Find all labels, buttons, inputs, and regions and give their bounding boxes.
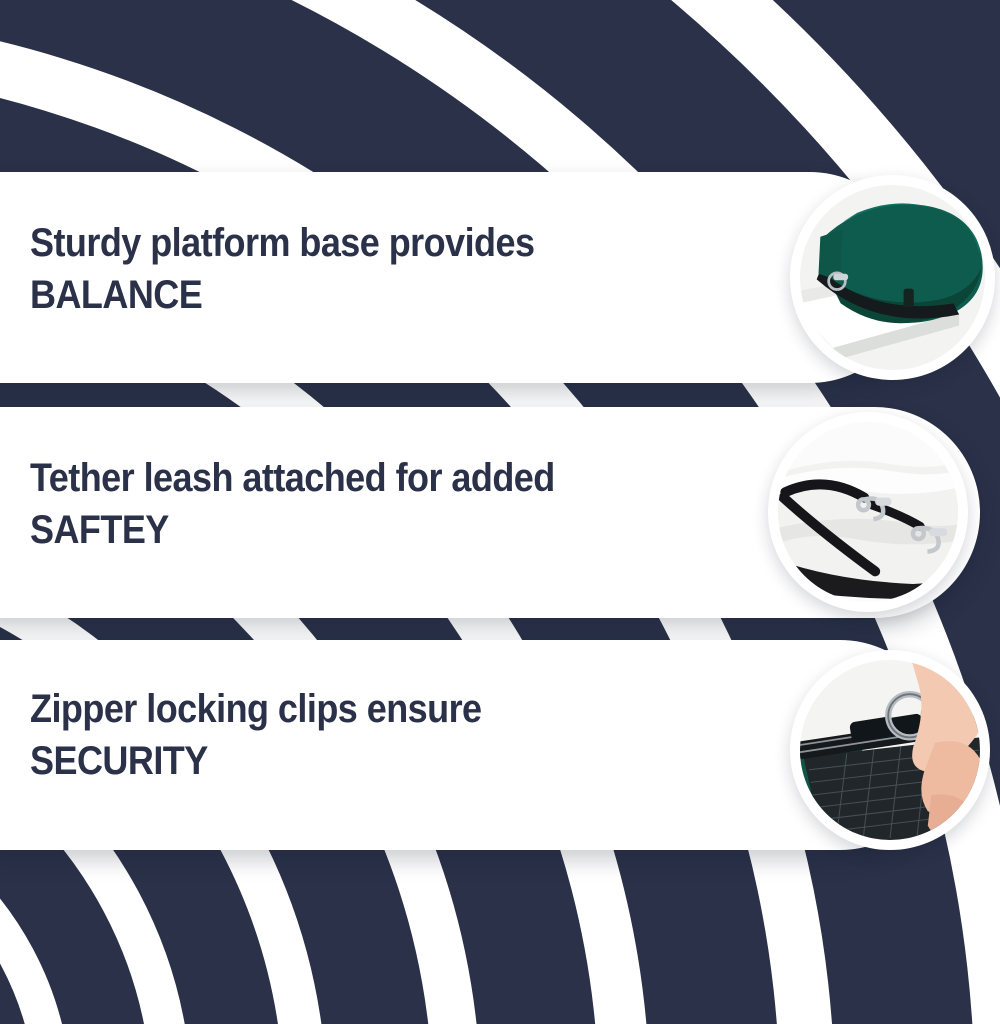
feature-card-saftey-keyword: SAFTEY	[30, 505, 169, 556]
green-bag-on-white-platform-base-photo	[800, 185, 985, 370]
feature-card-balance-keyword: BALANCE	[30, 270, 202, 321]
feature-highlights-graphic: Sturdy platform base provides BALANCE	[0, 0, 1000, 1024]
feature-card-balance: Sturdy platform base provides BALANCE	[0, 172, 915, 383]
green-bag-on-white-platform-base-ring	[790, 175, 995, 380]
feature-card-balance-text: Sturdy platform base provides	[30, 218, 534, 269]
feature-card-security-text: Zipper locking clips ensure	[30, 684, 482, 735]
hand-holding-zipper-locking-clips-photo	[800, 660, 980, 840]
black-tether-leash-with-clips-ring	[768, 412, 968, 612]
black-tether-leash-with-clips-photo	[778, 422, 958, 602]
feature-card-security-keyword: SECURITY	[30, 736, 208, 787]
feature-card-saftey-text: Tether leash attached for added	[30, 453, 555, 504]
hand-holding-zipper-locking-clips-ring	[790, 650, 990, 850]
